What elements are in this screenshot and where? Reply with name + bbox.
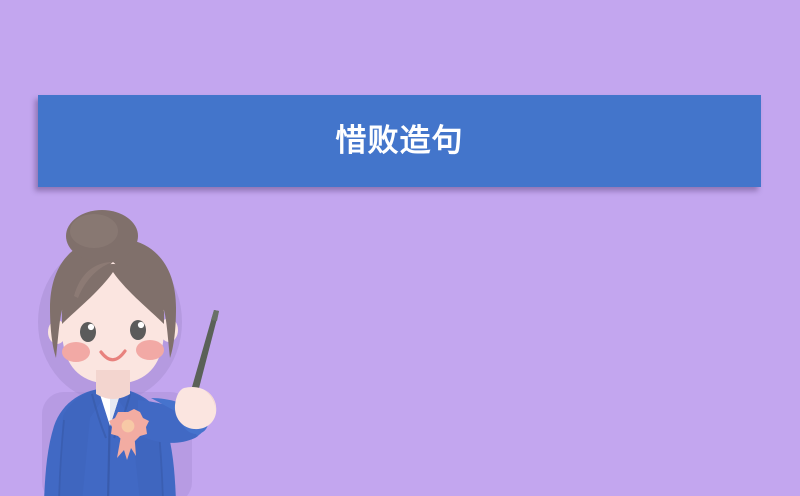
right-eye [130,320,146,340]
teacher-illustration [18,212,248,496]
title-banner: 惜败造句 [38,95,761,187]
hair-bun [66,210,138,262]
left-eye [80,322,96,342]
hand [175,387,216,429]
neck [96,370,130,399]
left-blush [62,342,90,362]
right-blush [136,340,164,360]
pointer-stick [190,310,219,396]
page-title: 惜败造句 [336,126,464,157]
page-canvas: 惜败造句 [0,0,800,496]
